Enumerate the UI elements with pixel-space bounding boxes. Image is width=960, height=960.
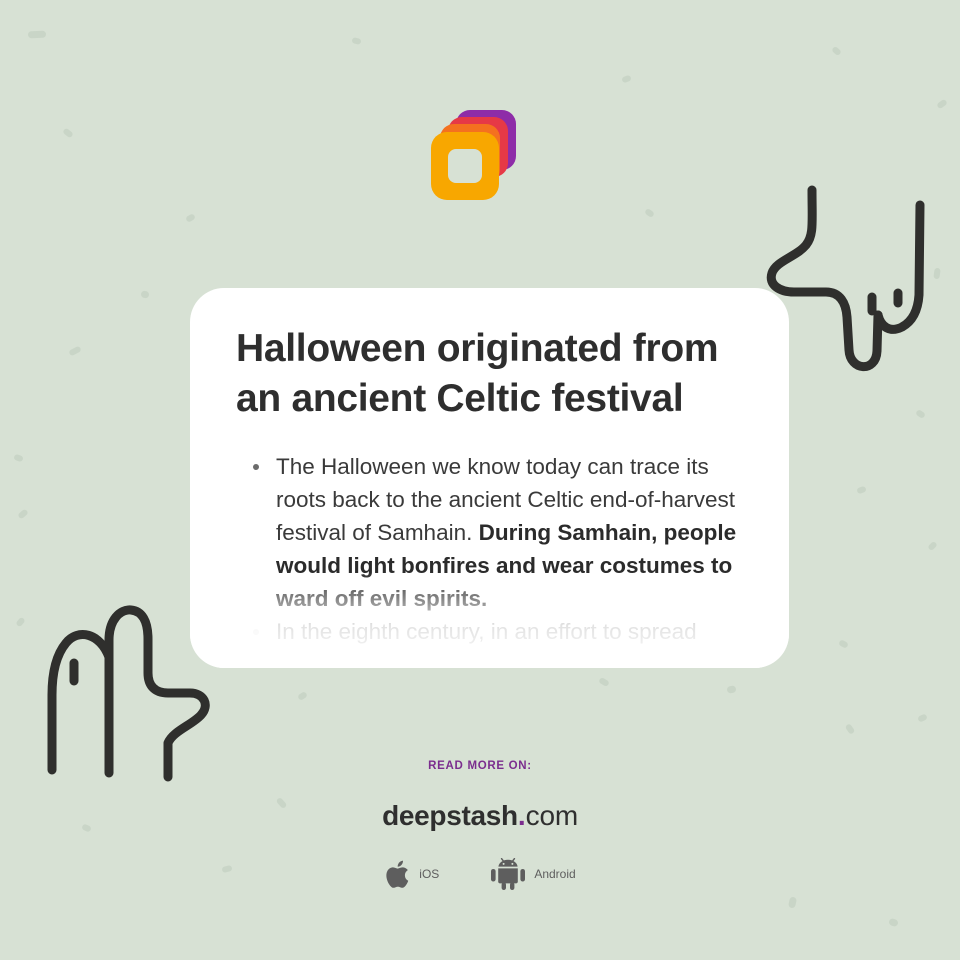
android-label: Android [534,867,575,881]
idea-card: Halloween originated from an ancient Cel… [190,288,789,668]
speck [831,46,842,56]
speck [845,723,856,735]
speck [915,409,926,419]
speck [598,677,610,687]
wordmark-tld: com [526,800,578,831]
list-item: The Halloween we know today can trace it… [276,450,741,615]
speck [856,486,866,494]
ios-label: iOS [419,867,439,881]
speck [726,685,736,694]
poster-canvas: Halloween originated from an ancient Cel… [0,0,960,960]
footer: READ MORE ON: deepstash.com iOS [0,760,960,890]
speck [13,454,23,462]
speck [297,691,308,701]
speck [68,346,81,357]
idea-bullet-list: The Halloween we know today can trace it… [236,450,741,648]
speck [644,208,655,218]
wordmark-name: deepstash [382,800,518,831]
deepstash-wordmark[interactable]: deepstash.com [0,800,960,832]
speck [927,541,938,552]
speck [917,713,928,722]
speck [621,75,632,84]
speck [888,918,899,928]
apple-icon [384,859,410,890]
app-store-badges: iOS And [0,858,960,890]
speck [933,268,940,280]
speck [17,508,29,519]
android-icon [491,858,525,890]
list-item: In the eighth century, in an effort to s… [276,615,741,648]
hand-pointing-up-icon [28,565,213,785]
speck [936,99,948,110]
speck [185,213,196,223]
speck [15,617,25,628]
android-badge[interactable]: Android [491,858,575,890]
speck [838,639,849,649]
speck [788,896,797,908]
speck [140,290,149,298]
deepstash-logo-icon [430,104,516,196]
speck [28,31,46,39]
page-title: Halloween originated from an ancient Cel… [236,324,741,424]
read-more-label: READ MORE ON: [0,760,960,772]
speck [351,37,361,45]
wordmark-dot: . [518,800,526,831]
ios-badge[interactable]: iOS [384,859,439,890]
logo-center-cutout [448,149,482,183]
bullet-lead-text: In the eighth century, in an effort to s… [276,619,697,644]
speck [62,128,74,139]
